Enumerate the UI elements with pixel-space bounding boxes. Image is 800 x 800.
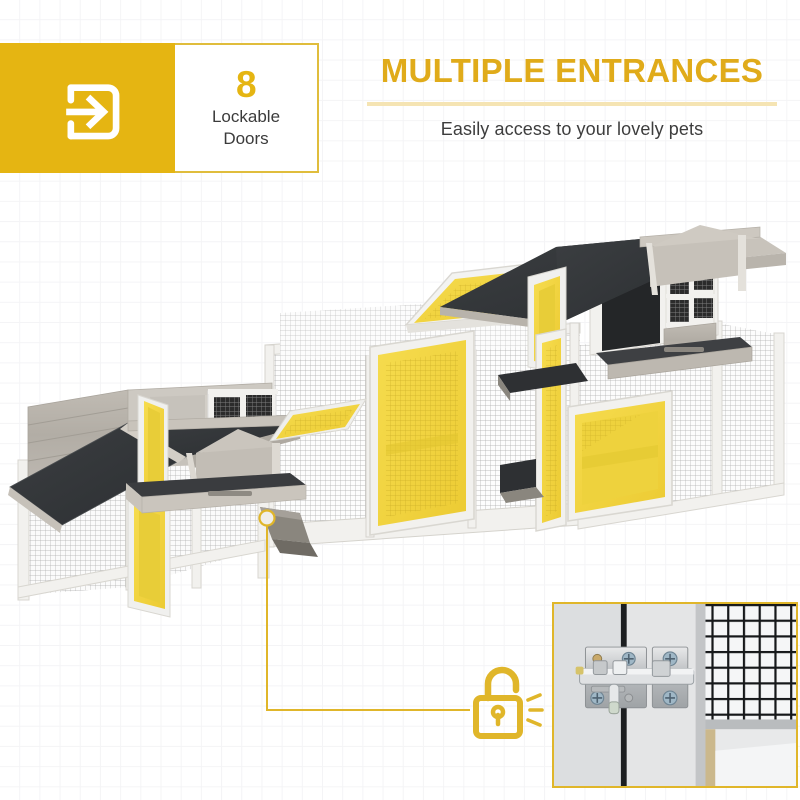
rabbit-hutch-illustration bbox=[0, 195, 800, 635]
badge-caption-line2: Doors bbox=[223, 129, 268, 148]
page-subtitle: Easily access to your lovely pets bbox=[362, 119, 782, 140]
product-image bbox=[0, 195, 800, 635]
title-divider bbox=[367, 102, 777, 106]
latch-photo-content bbox=[554, 604, 796, 786]
feature-badge: 8 Lockable Doors bbox=[0, 43, 319, 173]
enter-arrow-icon bbox=[49, 69, 127, 147]
header-title-block: MULTIPLE ENTRANCES Easily access to your… bbox=[362, 52, 782, 140]
badge-caption-line1: Lockable bbox=[212, 107, 280, 126]
left-gable-house bbox=[8, 383, 318, 617]
badge-number: 8 bbox=[236, 67, 256, 102]
badge-text-pane: 8 Lockable Doors bbox=[175, 43, 319, 173]
open-side-door-left bbox=[128, 495, 170, 617]
badge-caption: Lockable Doors bbox=[212, 106, 280, 151]
badge-icon-pane bbox=[0, 43, 175, 173]
open-run-door-2 bbox=[536, 329, 566, 531]
page-title: MULTIPLE ENTRANCES bbox=[362, 52, 782, 90]
open-front-door-left bbox=[138, 395, 168, 495]
open-padlock-icon bbox=[470, 662, 544, 746]
open-run-door-3 bbox=[568, 391, 672, 521]
latch-closeup-photo bbox=[552, 602, 798, 788]
open-run-door-1 bbox=[370, 331, 474, 535]
